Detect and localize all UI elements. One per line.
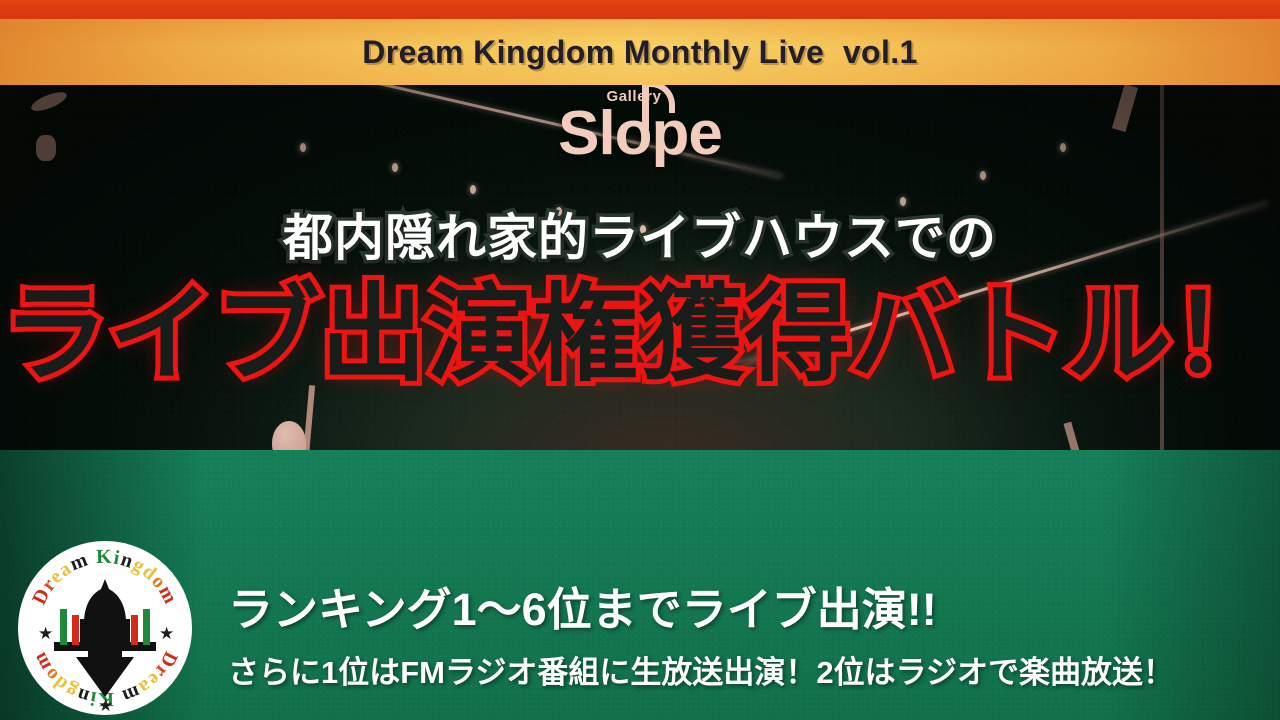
light-bulb	[392, 163, 398, 172]
badge-svg: Dream Kingdom Dream Kingdom ★ ★ ★	[16, 539, 194, 717]
badge-star-icon: ★	[38, 624, 53, 643]
footer-main-text: ランキング1〜6位までライブ出演!!	[228, 573, 1258, 638]
banner-title: Dream Kingdom Monthly Live vol.1	[0, 19, 1280, 85]
footer-sub-text: さらに1位はFMラジオ番組に生放送出演！2位はラジオで楽曲放送！	[228, 647, 1258, 692]
venue-name-text: Slope	[558, 99, 722, 168]
badge-star-icon: ★	[159, 624, 174, 643]
venue-name: Slope	[558, 105, 722, 164]
dream-kingdom-badge: Dream Kingdom Dream Kingdom ★ ★ ★	[16, 539, 194, 717]
poster-canvas: Dream Kingdom Monthly Live vol.1 Gallery…	[0, 0, 1280, 720]
light-bulb	[980, 171, 986, 180]
venue-logo: Gallery Slope	[0, 88, 1280, 164]
badge-star-icon: ★	[98, 696, 113, 715]
light-bulb	[470, 185, 476, 194]
hero-headline: ライブ出演権獲得バトル！	[0, 280, 1280, 391]
hero-subtitle: 都内隠れ家的ライブハウスでの	[0, 198, 1280, 270]
music-note-icon	[642, 81, 649, 129]
top-accent-strip	[0, 0, 1280, 19]
